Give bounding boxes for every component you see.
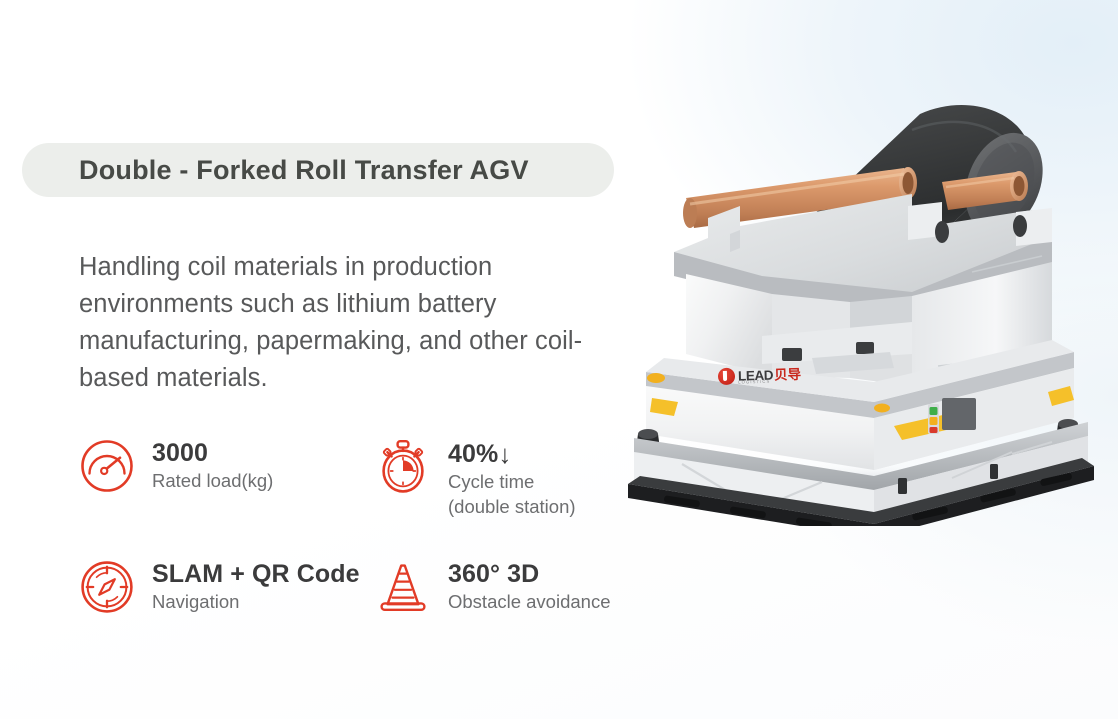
traffic-cone-icon bbox=[375, 559, 431, 615]
logo-chinese: 贝导 bbox=[774, 368, 801, 382]
spec-label: Navigation bbox=[152, 589, 360, 614]
spec-value: SLAM + QR Code bbox=[152, 560, 360, 589]
spec-label: Obstacle avoidance bbox=[448, 589, 611, 614]
spec-grid: 3000 Rated load(kg) bbox=[79, 437, 679, 615]
page-title: Double - Forked Roll Transfer AGV bbox=[79, 155, 529, 186]
spec-item-navigation: SLAM + QR Code Navigation bbox=[79, 558, 375, 615]
spec-value: 40%↓ bbox=[448, 439, 576, 469]
slide-background: Double - Forked Roll Transfer AGV Handli… bbox=[0, 0, 1118, 719]
spec-value: 360° 3D bbox=[448, 560, 611, 589]
spec-label: Rated load(kg) bbox=[152, 468, 273, 493]
spec-value-number: 40% bbox=[448, 440, 498, 468]
spec-body: 360° 3D Obstacle avoidance bbox=[448, 558, 611, 614]
spec-value: 3000 bbox=[152, 439, 273, 468]
spec-body: 40%↓ Cycle time (double station) bbox=[448, 437, 576, 519]
product-image-agv bbox=[612, 86, 1118, 526]
stopwatch-icon bbox=[375, 438, 431, 494]
spec-label-line-2: (double station) bbox=[448, 494, 576, 519]
spec-body: 3000 Rated load(kg) bbox=[152, 437, 273, 493]
spec-item-obstacle-avoidance: 360° 3D Obstacle avoidance bbox=[375, 558, 671, 615]
lead-logo-mark bbox=[718, 368, 735, 385]
brand-logo: LEAD 贝导 LOGISTICS bbox=[718, 366, 802, 385]
spec-label-line-1: Cycle time bbox=[448, 469, 576, 494]
description-text: Handling coil materials in production en… bbox=[79, 249, 649, 397]
compass-icon bbox=[79, 559, 135, 615]
page-title-pill: Double - Forked Roll Transfer AGV bbox=[22, 143, 614, 197]
spec-body: SLAM + QR Code Navigation bbox=[152, 558, 360, 614]
down-arrow-icon: ↓ bbox=[498, 440, 511, 469]
logo-subtitle: LOGISTICS bbox=[738, 379, 770, 385]
spec-item-rated-load: 3000 Rated load(kg) bbox=[79, 437, 375, 558]
gauge-icon bbox=[79, 438, 135, 494]
